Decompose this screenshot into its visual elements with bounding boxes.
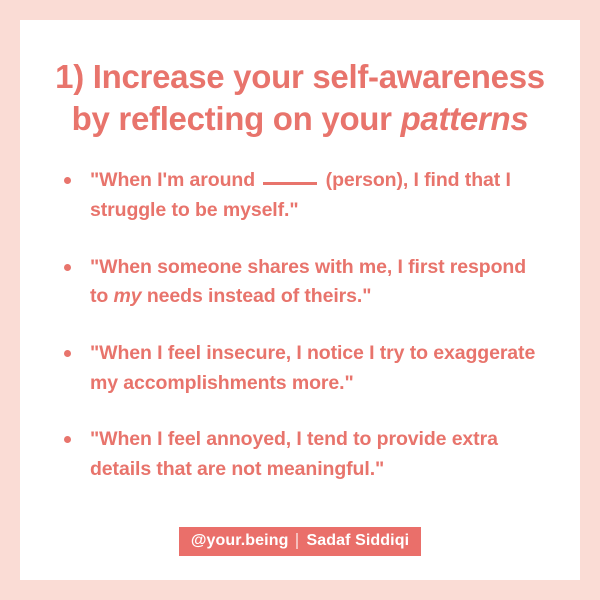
list-item-text: "When someone shares with me, I first re… xyxy=(90,256,526,308)
headline-line-1: 1) Increase your self-awareness xyxy=(36,56,564,98)
prompt-2-after-emphasis: needs instead of theirs." xyxy=(142,285,372,307)
poster-frame: 1) Increase your self-awareness by refle… xyxy=(0,0,600,600)
bullet-dot-icon xyxy=(64,436,71,443)
bullet-dot-icon xyxy=(64,177,71,184)
list-item: "When I feel insecure, I notice I try to… xyxy=(62,339,546,398)
list-item: "When I'm around (person), I find that I… xyxy=(62,166,546,225)
list-item: "When someone shares with me, I first re… xyxy=(62,253,546,312)
bullet-dot-icon xyxy=(64,350,71,357)
badge-separator-icon xyxy=(296,533,298,549)
content-card: 1) Increase your self-awareness by refle… xyxy=(20,20,580,580)
headline-line-2: by reflecting on your patterns xyxy=(36,98,564,140)
list-item: "When I feel annoyed, I tend to provide … xyxy=(62,425,546,484)
badge-handle: @your.being xyxy=(191,532,289,550)
page-title: 1) Increase your self-awareness by refle… xyxy=(20,20,580,140)
reflection-prompt-list: "When I'm around (person), I find that I… xyxy=(20,140,580,527)
headline-line-2-text: by reflecting on your xyxy=(72,100,401,137)
bullet-dot-icon xyxy=(64,264,71,271)
list-item-text: "When I'm around (person), I find that I… xyxy=(90,169,511,221)
prompt-2-emphasis-my: my xyxy=(114,285,142,307)
list-item-text: "When I feel annoyed, I tend to provide … xyxy=(90,428,498,480)
prompt-1-before-blank: "When I'm around xyxy=(90,169,260,191)
footer: @your.being Sadaf Siddiqi xyxy=(20,527,580,580)
attribution-badge: @your.being Sadaf Siddiqi xyxy=(179,527,421,556)
list-item-text: "When I feel insecure, I notice I try to… xyxy=(90,342,535,394)
badge-author: Sadaf Siddiqi xyxy=(306,532,409,550)
fill-in-blank xyxy=(263,182,317,185)
headline-emphasis-patterns: patterns xyxy=(401,100,529,137)
